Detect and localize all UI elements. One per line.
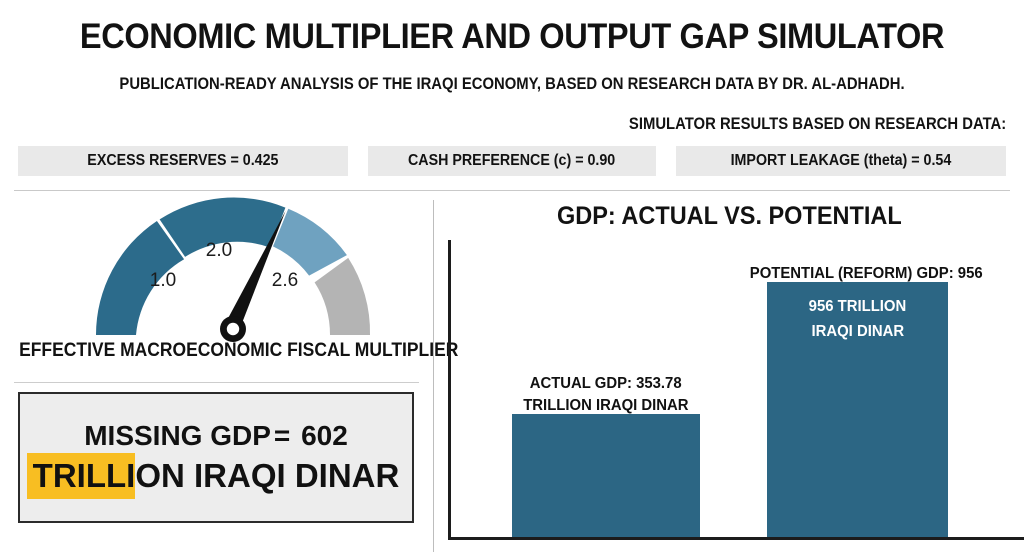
page-subtitle: PUBLICATION-READY ANALYSIS OF THE IRAQI … bbox=[51, 74, 973, 94]
simulator-dashboard: ECONOMIC MULTIPLIER AND OUTPUT GAP SIMUL… bbox=[0, 0, 1024, 559]
stat-pill-cash-preference-label: CASH PREFERENCE (c) = 0.90 bbox=[408, 152, 615, 170]
stat-pill-cash-preference: CASH PREFERENCE (c) = 0.90 bbox=[368, 146, 656, 176]
bar-actual-label: ACTUAL GDP: 353.78 TRILLION IRAQI DINAR bbox=[488, 373, 724, 417]
right-panel: GDP: ACTUAL VS. POTENTIAL 956 TRILLION I… bbox=[434, 192, 1024, 559]
gdp-bar-chart: 956 TRILLION IRAQI DINAR ACTUAL GDP: 353… bbox=[448, 240, 1024, 540]
gauge-tick-3: 2.6 bbox=[272, 270, 298, 291]
bar-actual-label-line1: ACTUAL GDP: 353.78 bbox=[530, 373, 682, 395]
bar-potential-inner-label: 956 TRILLION IRAQI DINAR bbox=[767, 294, 948, 344]
gauge-caption-text: EFFECTIVE MACROECONOMIC FISCAL MULTIPLIE… bbox=[19, 340, 458, 362]
missing-gdp-equals: = bbox=[274, 420, 290, 451]
missing-gdp-box: MISSING GDP= 602 TRILLION IRAQI DINAR bbox=[18, 392, 414, 523]
left-panel: 1.0 2.0 2.6 EFFECTIVE MACROECONOMIC FISC… bbox=[0, 192, 433, 559]
fiscal-multiplier-gauge: 1.0 2.0 2.6 bbox=[88, 196, 378, 344]
chart-x-axis bbox=[448, 537, 1024, 540]
missing-gdp-label: MISSING GDP bbox=[84, 420, 271, 451]
bar-potential-label: POTENTIAL (REFORM) GDP: 956 bbox=[721, 263, 1011, 285]
gauge-segment-headroom bbox=[315, 258, 370, 335]
bar-potential-gdp: 956 TRILLION IRAQI DINAR bbox=[767, 282, 948, 537]
gauge-panel: 1.0 2.0 2.6 EFFECTIVE MACROECONOMIC FISC… bbox=[0, 196, 433, 386]
missing-gdp-unit: TRILLION IRAQI DINAR bbox=[33, 457, 400, 494]
bar-actual-gdp bbox=[512, 414, 700, 537]
bar-actual-label-line2: TRILLION IRAQI DINAR bbox=[523, 395, 688, 417]
header-divider bbox=[14, 190, 1010, 191]
missing-gdp-headline: MISSING GDP= 602 bbox=[84, 420, 348, 452]
missing-gdp-value: 602 bbox=[301, 420, 348, 451]
gauge-tick-2: 2.0 bbox=[206, 240, 232, 261]
stat-pill-import-leakage-label: IMPORT LEAKAGE (theta) = 0.54 bbox=[731, 152, 952, 170]
bar-potential-inner-line1: 956 TRILLION bbox=[809, 294, 907, 319]
stat-pill-excess-reserves: EXCESS RESERVES = 0.425 bbox=[18, 146, 348, 176]
header: ECONOMIC MULTIPLIER AND OUTPUT GAP SIMUL… bbox=[0, 0, 1024, 191]
chart-title-text: GDP: ACTUAL VS. POTENTIAL bbox=[557, 202, 902, 231]
chart-y-axis bbox=[448, 240, 451, 538]
gauge-tick-1: 1.0 bbox=[150, 270, 176, 291]
stat-pill-import-leakage: IMPORT LEAKAGE (theta) = 0.54 bbox=[676, 146, 1006, 176]
page-title: ECONOMIC MULTIPLIER AND OUTPUT GAP SIMUL… bbox=[36, 16, 988, 58]
gauge-segment-high bbox=[273, 209, 347, 276]
stat-pill-row: EXCESS RESERVES = 0.425 CASH PREFERENCE … bbox=[18, 146, 1006, 176]
stat-pill-excess-reserves-label: EXCESS RESERVES = 0.425 bbox=[87, 152, 278, 170]
missing-gdp-unit-row: TRILLION IRAQI DINAR bbox=[33, 456, 400, 496]
results-caption: SIMULATOR RESULTS BASED ON RESEARCH DATA… bbox=[629, 114, 1006, 134]
chart-title: GDP: ACTUAL VS. POTENTIAL bbox=[434, 202, 1024, 231]
bar-potential-label-line1: POTENTIAL (REFORM) GDP: 956 bbox=[750, 263, 983, 285]
gauge-underline bbox=[14, 382, 419, 383]
bar-potential-inner-line2: IRAQI DINAR bbox=[811, 319, 904, 344]
gauge-caption: EFFECTIVE MACROECONOMIC FISCAL MULTIPLIE… bbox=[0, 340, 433, 362]
